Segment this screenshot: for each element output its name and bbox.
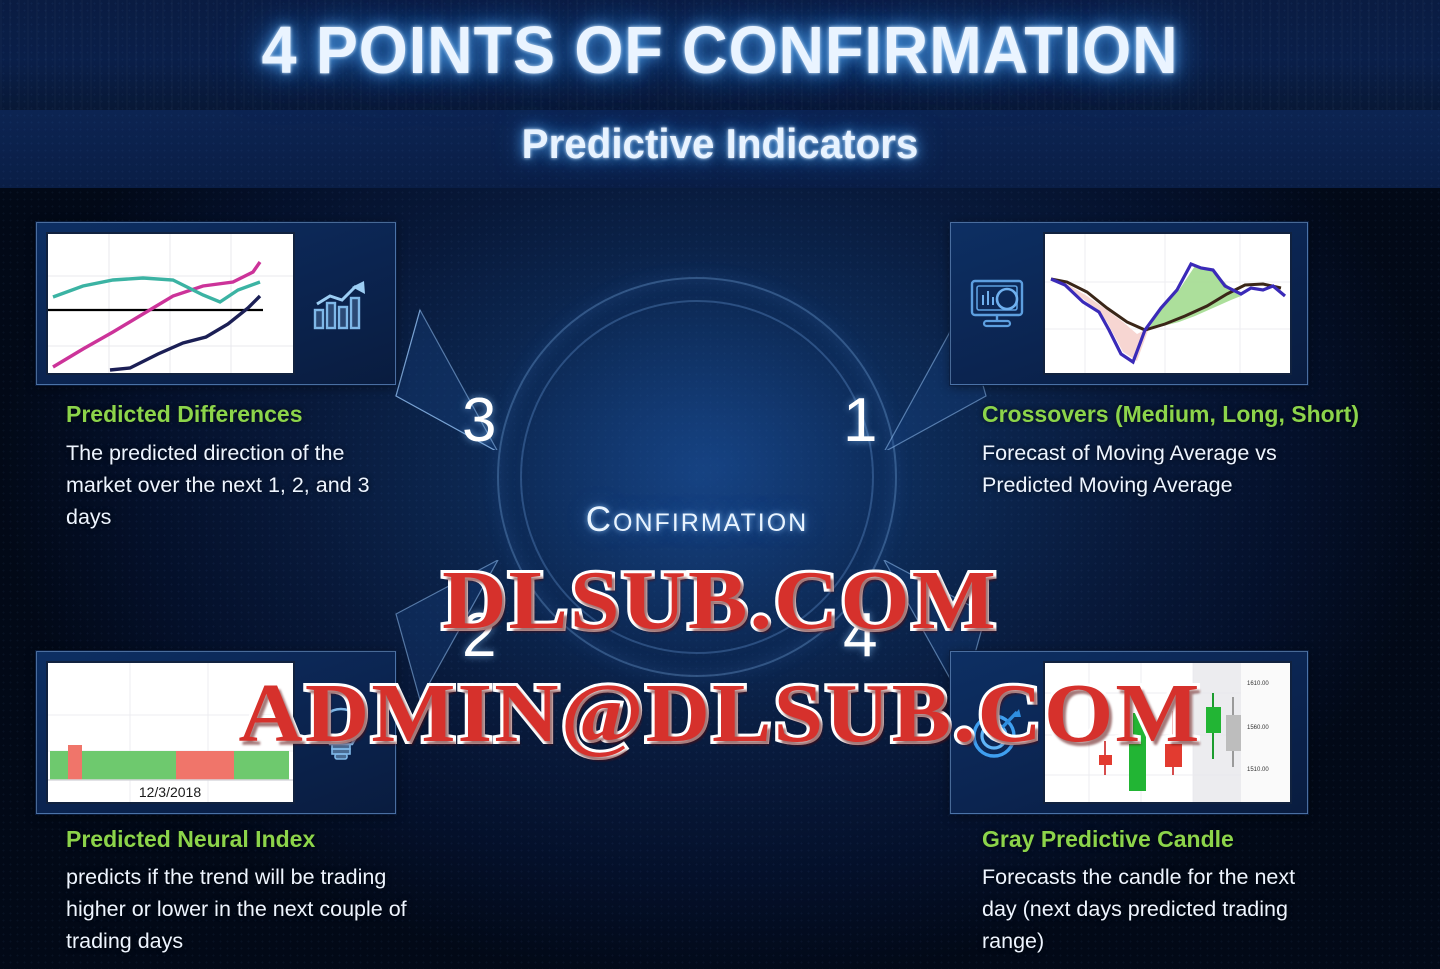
step-number-3: 3: [462, 385, 496, 456]
card-body-crossovers: Forecast of Moving Average vs Predicted …: [982, 437, 1352, 501]
page-title: 4 POINTS OF CONFIRMATION: [43, 12, 1397, 89]
card-crossovers[interactable]: [950, 222, 1308, 385]
chart-date-label: 12/3/2018: [139, 784, 201, 800]
infographic-canvas: 4 POINTS OF CONFIRMATION Predictive Indi…: [0, 0, 1440, 969]
price-label-bottom: 1510.00: [1247, 767, 1269, 773]
chart-crossovers: [1045, 234, 1290, 373]
card-body-gray-predictive-candle: Forecasts the candle for the next day (n…: [982, 861, 1332, 957]
connector-wedge-top-left: [390, 280, 520, 450]
card-predicted-differences[interactable]: [36, 222, 396, 385]
card-title-gray-predictive-candle: Gray Predictive Candle: [982, 826, 1234, 853]
center-label: Confirmation: [497, 500, 897, 540]
chart-predicted-differences: [48, 234, 293, 373]
monitor-analytics-icon: [951, 277, 1043, 331]
thumb-crossovers: [1043, 232, 1292, 375]
watermark-site: DLSUB.COM: [0, 552, 1440, 649]
card-body-predicted-neural-index: predicts if the trend will be trading hi…: [66, 861, 416, 957]
card-title-crossovers: Crossovers (Medium, Long, Short): [982, 401, 1359, 428]
bar-chart-growth-icon: [295, 277, 387, 331]
watermark-email: ADMIN@DLSUB.COM: [0, 665, 1440, 762]
step-number-1: 1: [843, 385, 877, 456]
card-title-predicted-differences: Predicted Differences: [66, 401, 302, 428]
page-subtitle: Predictive Indicators: [29, 120, 1411, 168]
thumb-predicted-differences: [46, 232, 295, 375]
card-title-predicted-neural-index: Predicted Neural Index: [66, 826, 315, 853]
card-body-predicted-differences: The predicted direction of the market ov…: [66, 437, 406, 533]
